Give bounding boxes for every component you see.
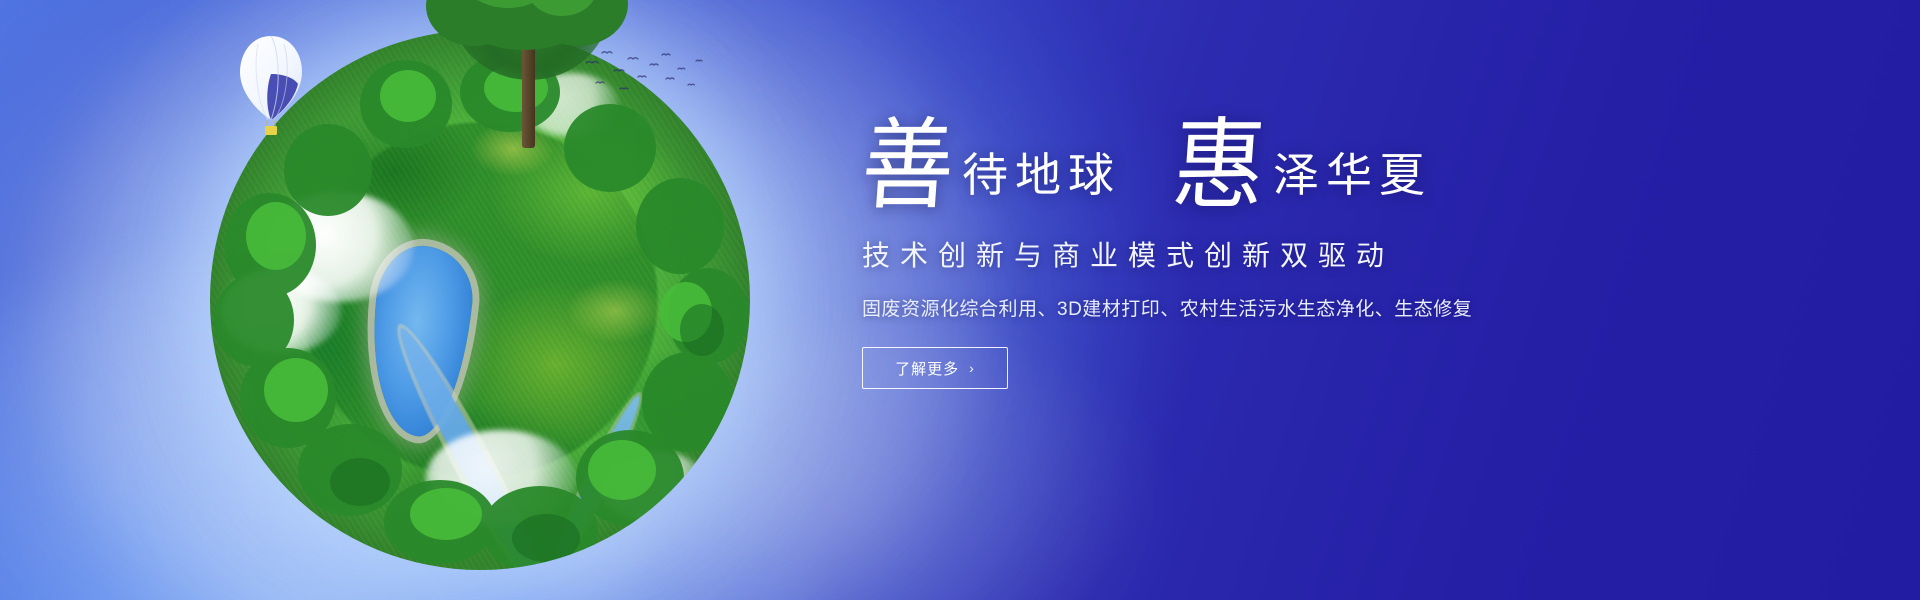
description: 固废资源化综合利用、3D建材打印、农村生活污水生态净化、生态修复 bbox=[862, 294, 1842, 321]
learn-more-button[interactable]: 了解更多 › bbox=[862, 347, 1008, 389]
learn-more-label: 了解更多 bbox=[895, 358, 959, 379]
bird-flock-icon bbox=[580, 45, 710, 105]
headline-char-1: 善 bbox=[859, 116, 958, 215]
subtitle: 技术创新与商业模式创新双驱动 bbox=[862, 234, 1842, 274]
hot-air-balloon-icon bbox=[236, 34, 306, 139]
hero-banner: 善 待地球 惠 泽华夏 技术创新与商业模式创新双驱动 固废资源化综合利用、3D建… bbox=[0, 0, 1920, 600]
headline-text-2: 泽华夏 bbox=[1273, 153, 1432, 199]
banner-content: 善 待地球 惠 泽华夏 技术创新与商业模式创新双驱动 固废资源化综合利用、3D建… bbox=[862, 120, 1842, 389]
headline-text-1: 待地球 bbox=[962, 153, 1121, 199]
headline: 善 待地球 惠 泽华夏 bbox=[862, 120, 1842, 212]
chevron-right-icon: › bbox=[969, 360, 975, 376]
headline-char-2: 惠 bbox=[1170, 116, 1269, 215]
